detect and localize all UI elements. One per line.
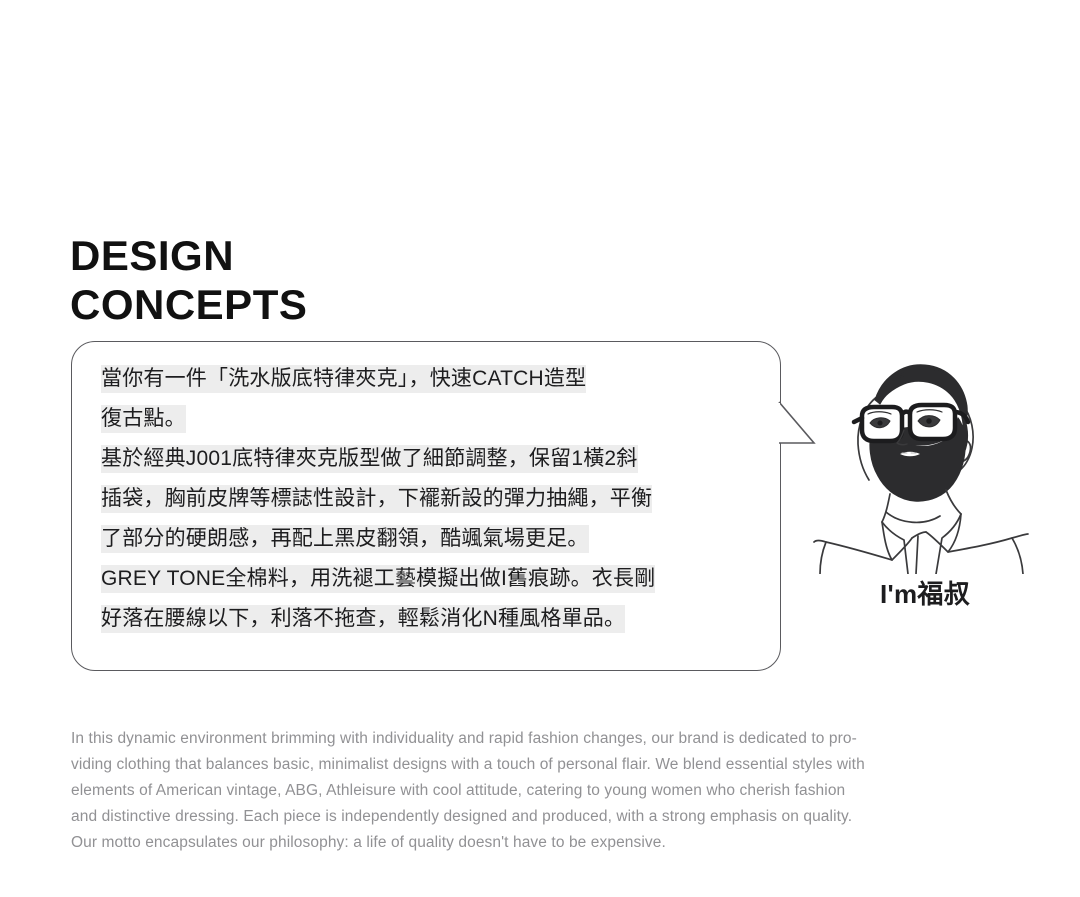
bubble-line: 基於經典J001底特律夾克版型做了細節調整，保留1橫2斜 — [101, 439, 763, 479]
bubble-line: 當你有一件「洗水版底特律夾克」，快速CATCH造型 — [101, 359, 763, 399]
about-line: viding clothing that balances basic, min… — [71, 752, 1006, 778]
bubble-line-text: GREY TONE全棉料，用洗褪工藝模擬出做I舊痕跡。衣長剛 — [101, 565, 655, 593]
bubble-line-text: 插袋，胸前皮牌等標誌性設計，下襬新設的彈力抽繩，平衡 — [101, 485, 652, 513]
bubble-line: GREY TONE全棉料，用洗褪工藝模擬出做I舊痕跡。衣長剛 — [101, 559, 763, 599]
portrait-caption: I'm福叔 — [800, 578, 1050, 610]
bubble-line: 復古點。 — [101, 399, 763, 439]
bubble-line: 插袋，胸前皮牌等標誌性設計，下襬新設的彈力抽繩，平衡 — [101, 479, 763, 519]
speech-bubble: 當你有一件「洗水版底特律夾克」，快速CATCH造型 復古點。 基於經典J001底… — [71, 341, 781, 671]
bubble-line-text: 基於經典J001底特律夾克版型做了細節調整，保留1橫2斜 — [101, 445, 638, 473]
page-title: DESIGN CONCEPTS — [70, 231, 670, 329]
about-line: elements of American vintage, ABG, Athle… — [71, 778, 1006, 804]
speech-bubble-text: 當你有一件「洗水版底特律夾克」，快速CATCH造型 復古點。 基於經典J001底… — [101, 359, 763, 639]
bubble-line-text: 當你有一件「洗水版底特律夾克」，快速CATCH造型 — [101, 365, 586, 393]
about-paragraph: In this dynamic environment brimming wit… — [71, 726, 1006, 856]
bubble-line-text: 了部分的硬朗感，再配上黑皮翻領，酷颯氣場更足。 — [101, 525, 589, 553]
bubble-line-text: 復古點。 — [101, 405, 186, 433]
portrait-illustration — [812, 344, 1030, 574]
bubble-line: 了部分的硬朗感，再配上黑皮翻領，酷颯氣場更足。 — [101, 519, 763, 559]
bubble-line: 好落在腰線以下，利落不拖查，輕鬆消化N種風格單品。 — [101, 599, 763, 639]
about-line: In this dynamic environment brimming wit… — [71, 726, 1006, 752]
bubble-line-text: 好落在腰線以下，利落不拖查，輕鬆消化N種風格單品。 — [101, 605, 625, 633]
about-line: Our motto encapsulates our philosophy: a… — [71, 830, 1006, 856]
about-line: and distinctive dressing. Each piece is … — [71, 804, 1006, 830]
